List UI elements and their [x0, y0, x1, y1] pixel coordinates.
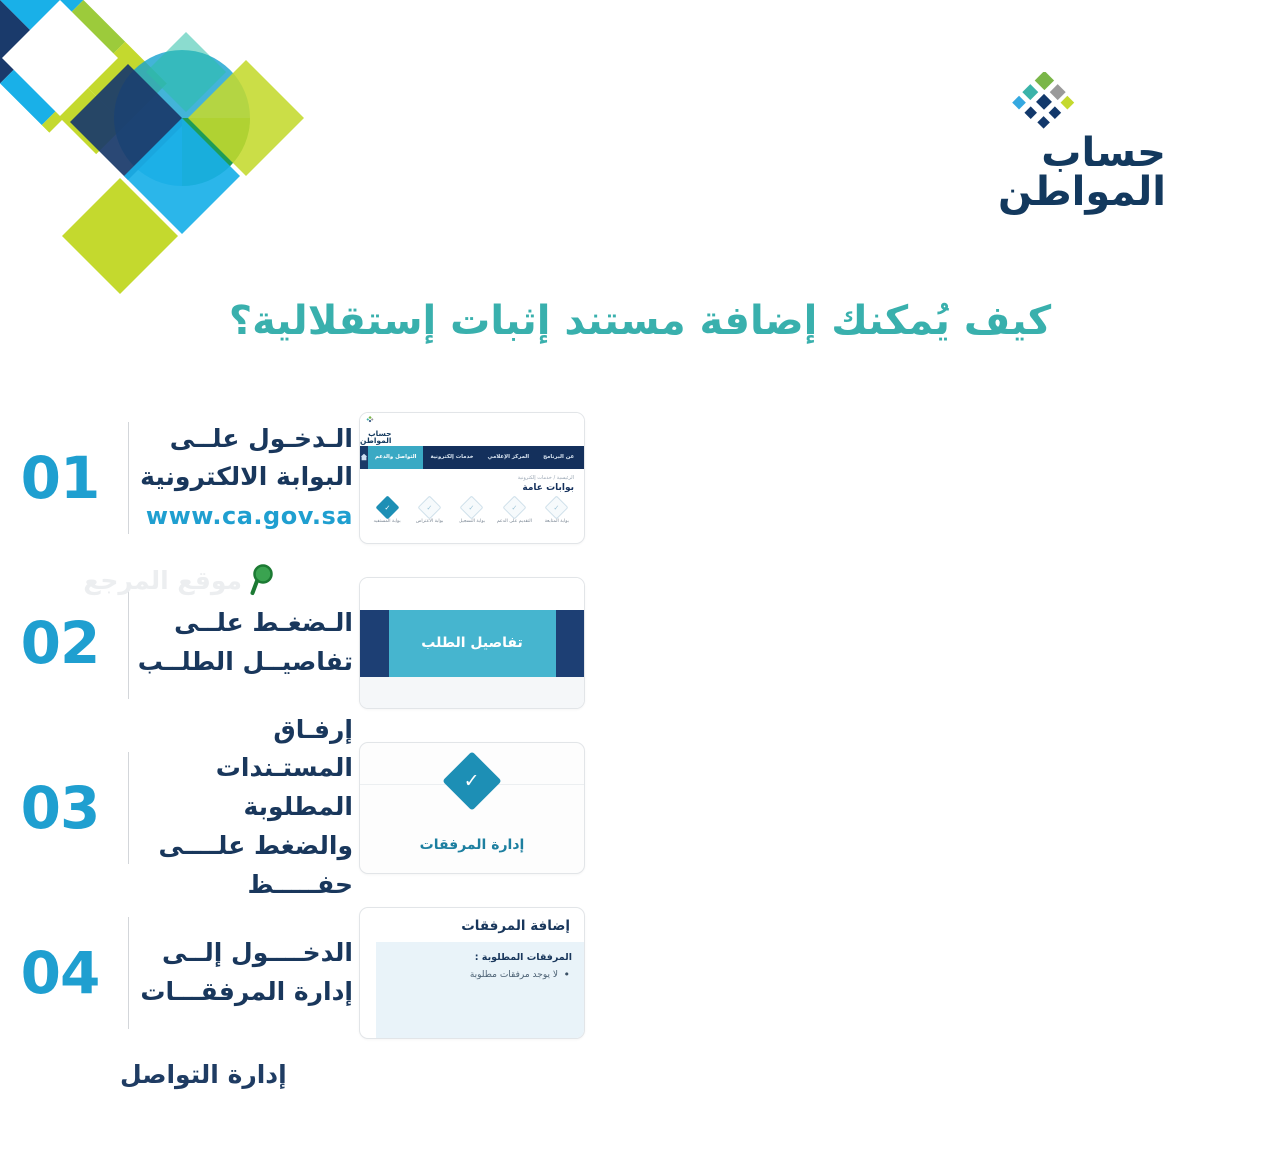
- portal-icon-row: ✓ بوابة المستفيد ✓ بوابة الاعتراض ✓ بواب…: [360, 493, 584, 543]
- infographic-page: { "brand": { "logo_line1": "حساب", "logo…: [0, 0, 1280, 1158]
- step-text: إرفـاق المستـندات المطلوبة والضغط علــــ…: [137, 711, 359, 905]
- portal-tile-label: التقديم على الدعم: [493, 519, 535, 524]
- portal-nav-item-2[interactable]: المركز الإعلامي: [481, 446, 537, 469]
- footer-label: إدارة التواصل: [120, 1060, 287, 1089]
- step-divider: [128, 917, 129, 1029]
- step-row: 04 الدخــــول إلــى إدارة المرفقـــات إض…: [0, 900, 1280, 1045]
- brand-logo: حساب المواطن: [998, 72, 1188, 212]
- step-text: الدخــــول إلــى إدارة المرفقـــات: [137, 934, 359, 1012]
- thumb-navy-band: تفاصيل الطلب: [360, 610, 584, 677]
- portal-tile-4[interactable]: ✓ بوابة المتابعة: [536, 499, 578, 524]
- required-attachments-value: لا يوجد مرفقات مطلوبة: [376, 970, 572, 980]
- decorative-diamond-pattern: [0, 0, 310, 295]
- step-text-body: الـضغـط علــى تفاصيــل الطلــب: [138, 608, 353, 676]
- portal-logo-line-2: المواطن: [360, 437, 392, 445]
- portal-logo-mark: [364, 416, 376, 426]
- thumb-bottom-spacer: [360, 677, 584, 708]
- portal-header: حساب المواطن: [360, 413, 584, 446]
- step-divider: [128, 587, 129, 699]
- request-details-button[interactable]: تفاصيل الطلب: [389, 610, 556, 677]
- portal-tile-label: بوابة المستفيد: [366, 519, 408, 524]
- portal-breadcrumb-area: الرئيسية / خدمات إلكترونية بوابات عامة: [360, 469, 584, 493]
- portal-nav-item-4[interactable]: الصفحة الرئيسية: [581, 446, 585, 469]
- step-text-body: الدخــــول إلــى إدارة المرفقـــات: [140, 938, 353, 1006]
- step-text: الـدخـول علــى البوابة الالكترونية www.c…: [137, 420, 359, 536]
- step-number: 01: [0, 444, 120, 512]
- diamond-check-icon: ✓: [442, 751, 501, 810]
- portal-nav-item-1[interactable]: خدمات إلكترونية: [423, 446, 480, 469]
- step-thumbnail-manage-attachments[interactable]: ✓ إدارة المرفقات: [359, 742, 585, 874]
- breadcrumb: الرئيسية / خدمات إلكترونية: [360, 475, 574, 481]
- decorative-pattern-svg: [0, 0, 310, 295]
- diamond-grid-logo-mark: [998, 72, 1090, 132]
- portal-tile-label: بوابة المتابعة: [536, 519, 578, 524]
- step-number: 02: [0, 609, 120, 677]
- required-attachments-label: المرفقات المطلوبة :: [376, 952, 572, 963]
- required-attachments-panel: المرفقات المطلوبة : لا يوجد مرفقات مطلوب…: [376, 942, 584, 1038]
- diamond-check-icon: ✓: [460, 495, 484, 519]
- portal-tile-0[interactable]: ✓ بوابة المستفيد: [366, 499, 408, 524]
- brand-wordmark: حساب المواطن: [998, 134, 1166, 212]
- home-glyph: [360, 453, 368, 461]
- portal-nav-item-3[interactable]: عن البرنامج: [536, 446, 581, 469]
- portal-page-title: بوابات عامة: [360, 483, 574, 493]
- step-thumbnail-portal[interactable]: حساب المواطن التواصل والدعم خدمات إلكترو…: [359, 412, 585, 544]
- diamond-check-icon: ✓: [502, 495, 526, 519]
- page-title: كيف يُمكنك إضافة مستند إثبات إستقلالية؟: [0, 298, 1280, 344]
- manage-attachments-label: إدارة المرفقات: [360, 837, 584, 853]
- portal-url[interactable]: www.ca.gov.sa: [137, 498, 353, 535]
- portal-tile-3[interactable]: ✓ التقديم على الدعم: [493, 499, 535, 524]
- home-icon[interactable]: [360, 446, 368, 469]
- tile-icon-area: ✓: [360, 743, 584, 785]
- step-number: 03: [0, 774, 120, 842]
- diamond-check-icon: ✓: [545, 495, 569, 519]
- add-attachments-title: إضافة المرفقات: [360, 908, 584, 942]
- brand-line-2: المواطن: [998, 173, 1166, 212]
- portal-tile-label: بوابة الاعتراض: [408, 519, 450, 524]
- portal-tile-1[interactable]: ✓ بوابة الاعتراض: [408, 499, 450, 524]
- diamond-check-icon: ✓: [375, 495, 399, 519]
- steps-list: 01 الـدخـول علــى البوابة الالكترونية ww…: [0, 405, 1280, 1045]
- step-thumbnail-request-details[interactable]: تفاصيل الطلب: [359, 577, 585, 709]
- brand-line-1: حساب: [998, 134, 1166, 173]
- portal-tile-2[interactable]: ✓ بوابة التسجيل: [451, 499, 493, 524]
- portal-nav-item-0[interactable]: التواصل والدعم: [368, 446, 423, 469]
- step-divider: [128, 422, 129, 534]
- portal-tile-label: بوابة التسجيل: [451, 519, 493, 524]
- step-text-body: إرفـاق المستـندات المطلوبة والضغط علــــ…: [159, 715, 353, 899]
- step-text: الـضغـط علــى تفاصيــل الطلــب: [137, 604, 359, 682]
- portal-logo: حساب المواطن: [360, 414, 392, 445]
- diamond-check-icon: ✓: [418, 495, 442, 519]
- step-row: 02 الـضغـط علــى تفاصيــل الطلــب تفاصيل…: [0, 570, 1280, 715]
- portal-navbar: التواصل والدعم خدمات إلكترونية المركز ال…: [360, 446, 584, 469]
- step-number: 04: [0, 939, 120, 1007]
- thumb-top-spacer: [360, 578, 584, 610]
- step-divider: [128, 752, 129, 864]
- step-thumbnail-add-attachments[interactable]: إضافة المرفقات المرفقات المطلوبة : لا يو…: [359, 907, 585, 1039]
- step-row: 03 إرفـاق المستـندات المطلوبة والضغط علـ…: [0, 735, 1280, 880]
- check-glyph: ✓: [464, 771, 480, 790]
- step-text-body: الـدخـول علــى البوابة الالكترونية: [140, 424, 353, 492]
- step-row: 01 الـدخـول علــى البوابة الالكترونية ww…: [0, 405, 1280, 550]
